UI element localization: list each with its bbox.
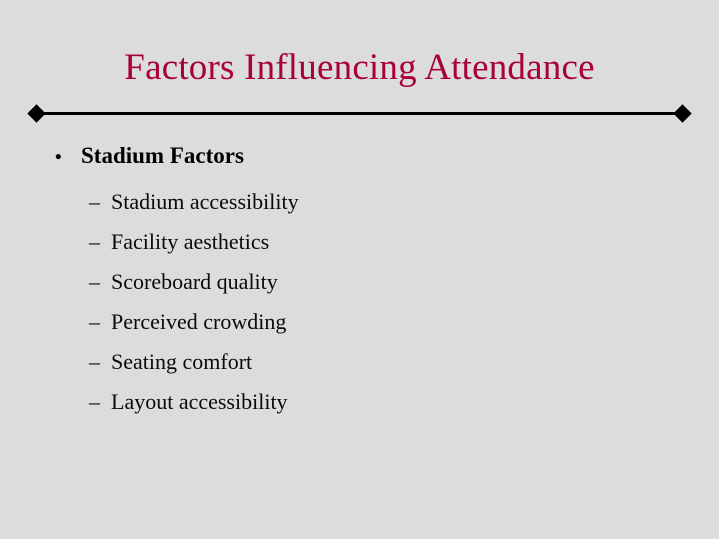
bullet-dash-icon: – <box>89 342 111 382</box>
bullet-dash-icon: – <box>89 262 111 302</box>
list-item: – Scoreboard quality <box>0 262 719 302</box>
diamond-cap-right-icon <box>673 104 691 122</box>
title-divider <box>30 104 689 124</box>
list-item-label: Seating comfort <box>111 342 252 382</box>
bullet-dash-icon: – <box>89 182 111 222</box>
slide-title: Factors Influencing Attendance <box>0 45 719 91</box>
list-item-label: Stadium accessibility <box>111 182 299 222</box>
bullet-dash-icon: – <box>89 222 111 262</box>
bullet-dot-icon: • <box>55 140 81 176</box>
list-item: – Stadium accessibility <box>0 182 719 222</box>
list-item: – Layout accessibility <box>0 382 719 422</box>
bullet-dash-icon: – <box>89 302 111 342</box>
list-item: – Seating comfort <box>0 342 719 382</box>
list-item-label: Facility aesthetics <box>111 222 269 262</box>
bullet-level2-list: – Stadium accessibility – Facility aesth… <box>0 182 719 422</box>
list-item: – Facility aesthetics <box>0 222 719 262</box>
list-item-label: Scoreboard quality <box>111 262 278 302</box>
bullet-dash-icon: – <box>89 382 111 422</box>
bullet-level1: • Stadium Factors <box>0 138 719 174</box>
divider-line <box>39 112 680 115</box>
presentation-slide: Factors Influencing Attendance • Stadium… <box>0 0 719 539</box>
list-item-label: Layout accessibility <box>111 382 288 422</box>
list-item-label: Perceived crowding <box>111 302 286 342</box>
slide-body: • Stadium Factors – Stadium accessibilit… <box>0 138 719 422</box>
list-item: – Perceived crowding <box>0 302 719 342</box>
bullet-level1-label: Stadium Factors <box>81 138 244 174</box>
